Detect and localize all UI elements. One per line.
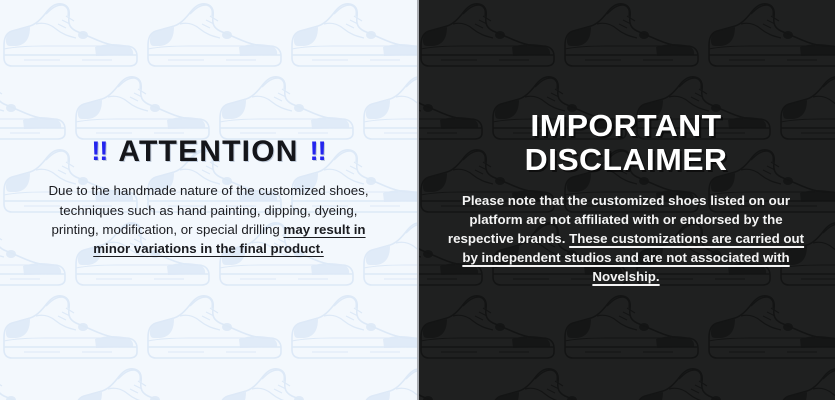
customization-notice-banner: !!ATTENTION!! Due to the handmade nature…: [0, 0, 835, 400]
disclaimer-body: Please note that the customized shoes li…: [445, 192, 807, 286]
attention-heading-text: ATTENTION: [118, 135, 298, 168]
panel-divider: [417, 0, 419, 400]
disclaimer-heading-line2: DISCLAIMER: [525, 142, 728, 177]
exclamation-right-icon: !!: [310, 137, 326, 165]
disclaimer-heading-line1: IMPORTANT: [530, 108, 721, 143]
exclamation-left-icon: !!: [91, 137, 107, 165]
attention-body: Due to the handmade nature of the custom…: [36, 181, 381, 258]
attention-panel: !!ATTENTION!! Due to the handmade nature…: [0, 0, 417, 400]
disclaimer-panel: IMPORTANT DISCLAIMER Please note that th…: [417, 0, 835, 400]
attention-heading: !!ATTENTION!!: [36, 136, 381, 168]
disclaimer-heading: IMPORTANT DISCLAIMER: [440, 109, 813, 176]
